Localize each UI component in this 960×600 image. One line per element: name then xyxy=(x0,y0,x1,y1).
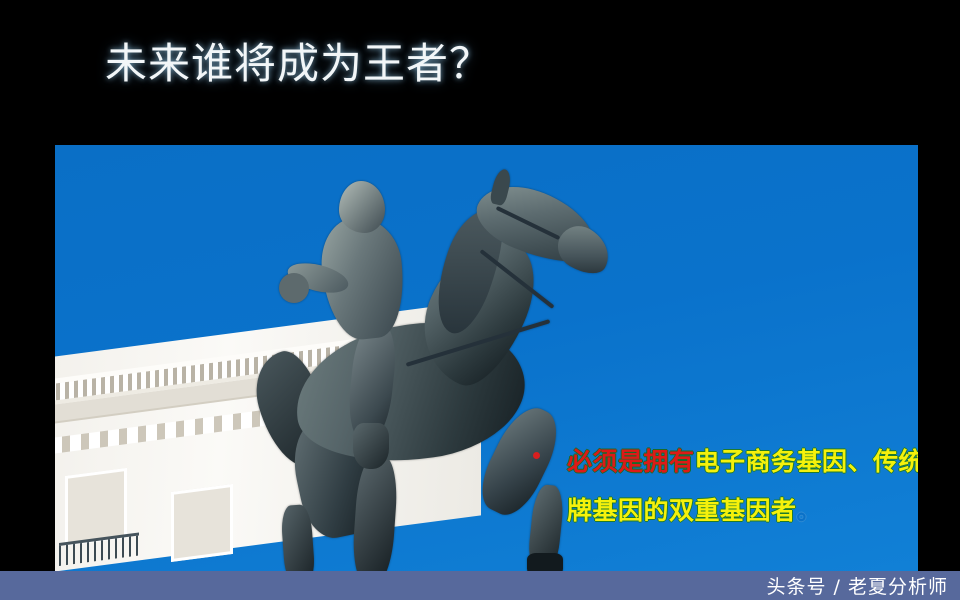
page-title: 未来谁将成为王者？ xyxy=(105,41,492,89)
bullet-list: 必须是拥有电子商务基因、传统品牌基因的双重基因者。 xyxy=(533,437,918,535)
rider-boot xyxy=(353,423,389,469)
bullet-text-period: 。 xyxy=(797,496,823,525)
bullet-text: 必须是拥有电子商务基因、传统品牌基因的双重基因者。 xyxy=(567,437,918,535)
bullet-text-emphasis-red: 必须是拥有 xyxy=(567,447,695,476)
horse-hoof xyxy=(527,553,563,572)
list-item: 必须是拥有电子商务基因、传统品牌基因的双重基因者。 xyxy=(533,437,918,535)
rider-head xyxy=(339,181,385,233)
rider-hand xyxy=(279,273,309,303)
watermark-text: 头条号 / 老夏分析师 xyxy=(767,572,960,599)
presentation-slide: 未来谁将成为王者？ xyxy=(0,0,960,600)
watermark-bar: 头条号 / 老夏分析师 xyxy=(0,571,960,600)
bullet-dot-icon xyxy=(533,452,540,459)
slide-photo: 必须是拥有电子商务基因、传统品牌基因的双重基因者。 xyxy=(55,145,918,572)
